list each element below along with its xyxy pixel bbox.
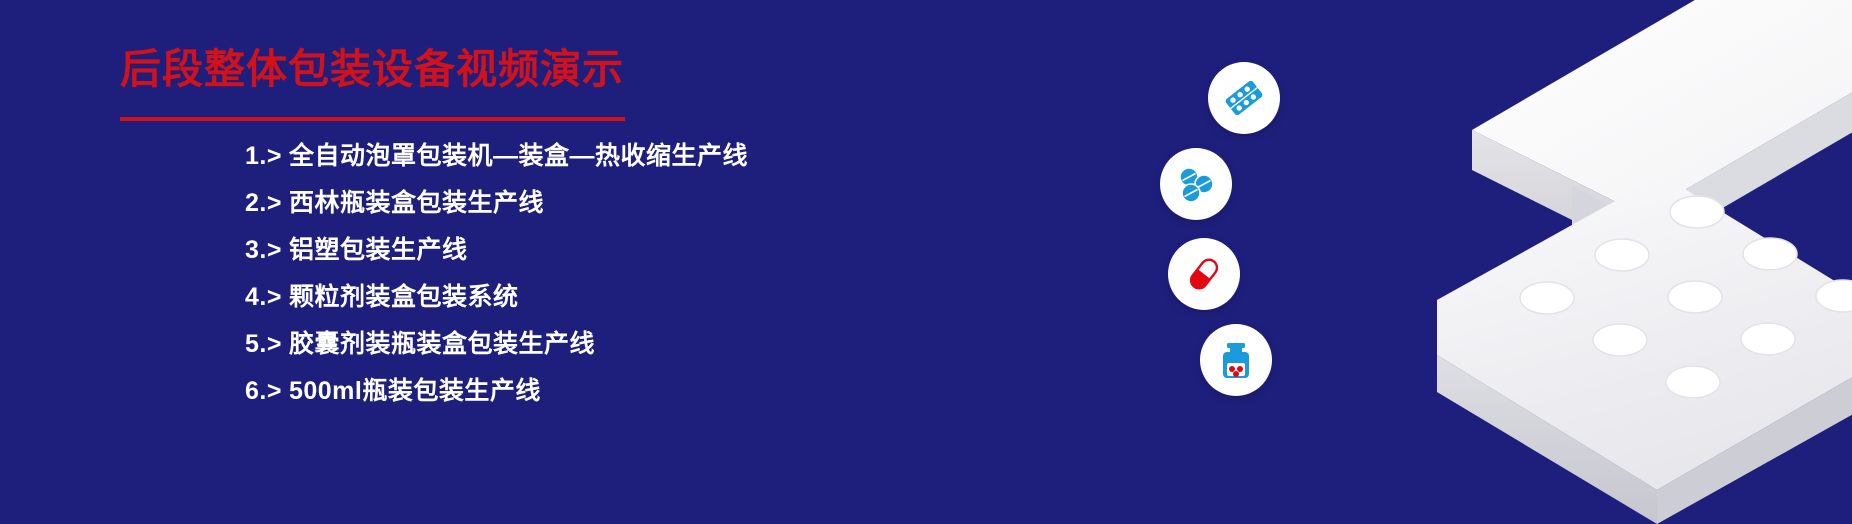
list-item[interactable]: 4.>颗粒剂装盒包装系统 (245, 274, 748, 321)
carton-illustration (1242, 0, 1852, 524)
list-item[interactable]: 6.>500ml瓶装包装生产线 (245, 368, 748, 415)
medicine-bottle-icon (1200, 324, 1272, 396)
list-item[interactable]: 2.>西林瓶装盒包装生产线 (245, 180, 748, 227)
blister-pack-icon (1208, 62, 1280, 134)
feature-list: 1.>全自动泡罩包装机—装盒—热收缩生产线 2.>西林瓶装盒包装生产线 3.>铝… (245, 133, 748, 415)
page-title: 后段整体包装设备视频演示 (120, 45, 624, 94)
list-item-label: 500ml瓶装包装生产线 (289, 377, 541, 405)
list-item-index: 2.> (245, 180, 282, 227)
list-item[interactable]: 3.>铝塑包装生产线 (245, 227, 748, 274)
product-illustration (952, 0, 1852, 524)
list-item[interactable]: 1.>全自动泡罩包装机—装盒—热收缩生产线 (245, 133, 748, 180)
text-column: 后段整体包装设备视频演示 1.>全自动泡罩包装机—装盒—热收缩生产线 2.>西林… (0, 0, 960, 524)
list-item-index: 6.> (245, 368, 282, 415)
list-item-label: 全自动泡罩包装机—装盒—热收缩生产线 (289, 142, 748, 170)
list-item-index: 3.> (245, 227, 282, 274)
promo-banner: 后段整体包装设备视频演示 1.>全自动泡罩包装机—装盒—热收缩生产线 2.>西林… (0, 0, 1852, 524)
list-item-index: 4.> (245, 274, 282, 321)
title-underline-rule (120, 117, 625, 121)
tablets-icon (1160, 148, 1232, 220)
list-item-label: 铝塑包装生产线 (289, 236, 468, 264)
capsule-icon (1168, 238, 1240, 310)
list-item-label: 颗粒剂装盒包装系统 (289, 283, 519, 311)
list-item-index: 1.> (245, 133, 282, 180)
list-item-label: 西林瓶装盒包装生产线 (289, 189, 544, 217)
list-item-label: 胶囊剂装瓶装盒包装生产线 (289, 330, 595, 358)
list-item[interactable]: 5.>胶囊剂装瓶装盒包装生产线 (245, 321, 748, 368)
list-item-index: 5.> (245, 321, 282, 368)
